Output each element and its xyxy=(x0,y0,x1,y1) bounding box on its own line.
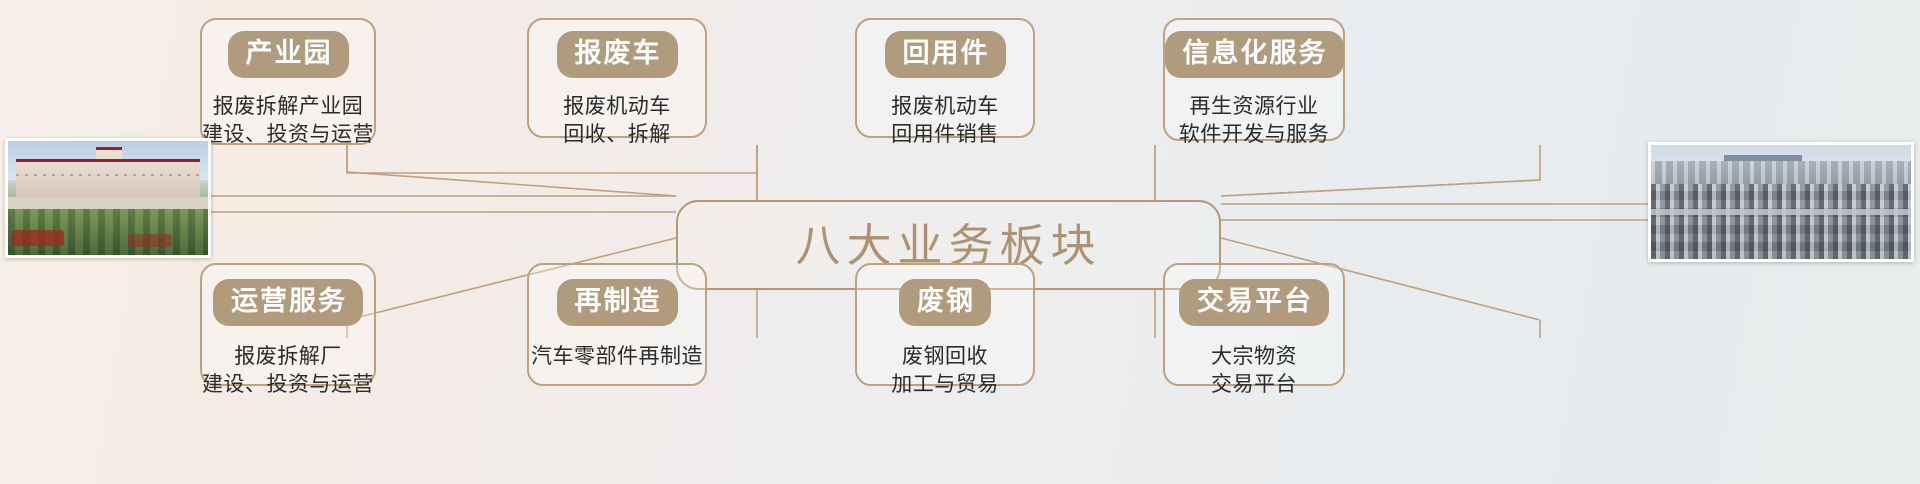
left-campus-photo xyxy=(5,138,211,258)
card-top-3-badge: 回用件 xyxy=(885,31,1006,78)
card-top-2-badge: 报废车 xyxy=(557,31,678,78)
card-top-3[interactable]: 回用件 报废机动车 回用件销售 xyxy=(855,18,1035,138)
card-bottom-2-badge: 再制造 xyxy=(557,279,678,326)
card-bottom-1-desc: 报废拆解厂 建设、投资与运营 xyxy=(202,343,374,398)
card-bottom-2[interactable]: 再制造 汽车零部件再制造 xyxy=(527,263,707,386)
card-top-4-badge: 信息化服务 xyxy=(1165,31,1344,78)
center-node-title: 八大业务板块 xyxy=(795,223,1101,268)
left-campus-photo-image xyxy=(8,141,208,255)
card-top-1-badge: 产业园 xyxy=(228,31,349,78)
card-bottom-1[interactable]: 运营服务 报废拆解厂 建设、投资与运营 xyxy=(200,263,376,386)
card-bottom-4-badge: 交易平台 xyxy=(1179,279,1329,326)
card-bottom-3-desc: 废钢回收 加工与贸易 xyxy=(891,343,999,398)
card-bottom-3[interactable]: 废钢 废钢回收 加工与贸易 xyxy=(855,263,1035,386)
card-top-2-desc: 报废机动车 回收、拆解 xyxy=(563,93,671,148)
card-bottom-2-desc: 汽车零部件再制造 xyxy=(531,343,703,371)
right-yard-photo xyxy=(1648,142,1914,262)
card-top-3-desc: 报废机动车 回用件销售 xyxy=(891,93,999,148)
card-top-2[interactable]: 报废车 报废机动车 回收、拆解 xyxy=(527,18,707,138)
right-yard-photo-image xyxy=(1651,145,1911,259)
card-top-1-desc: 报废拆解产业园 建设、投资与运营 xyxy=(202,93,374,148)
card-top-4[interactable]: 信息化服务 再生资源行业 软件开发与服务 xyxy=(1163,18,1345,141)
card-top-4-desc: 再生资源行业 软件开发与服务 xyxy=(1179,93,1330,148)
business-sectors-diagram: 八大业务板块 产业园 报废拆解产业园 建设、投资与运营 报废车 报废机动车 回收… xyxy=(0,0,1920,484)
card-bottom-4[interactable]: 交易平台 大宗物资 交易平台 xyxy=(1163,263,1345,386)
card-bottom-4-desc: 大宗物资 交易平台 xyxy=(1211,343,1297,398)
card-top-1[interactable]: 产业园 报废拆解产业园 建设、投资与运营 xyxy=(200,18,376,145)
card-bottom-3-badge: 废钢 xyxy=(899,279,991,326)
card-bottom-1-badge: 运营服务 xyxy=(213,279,363,326)
